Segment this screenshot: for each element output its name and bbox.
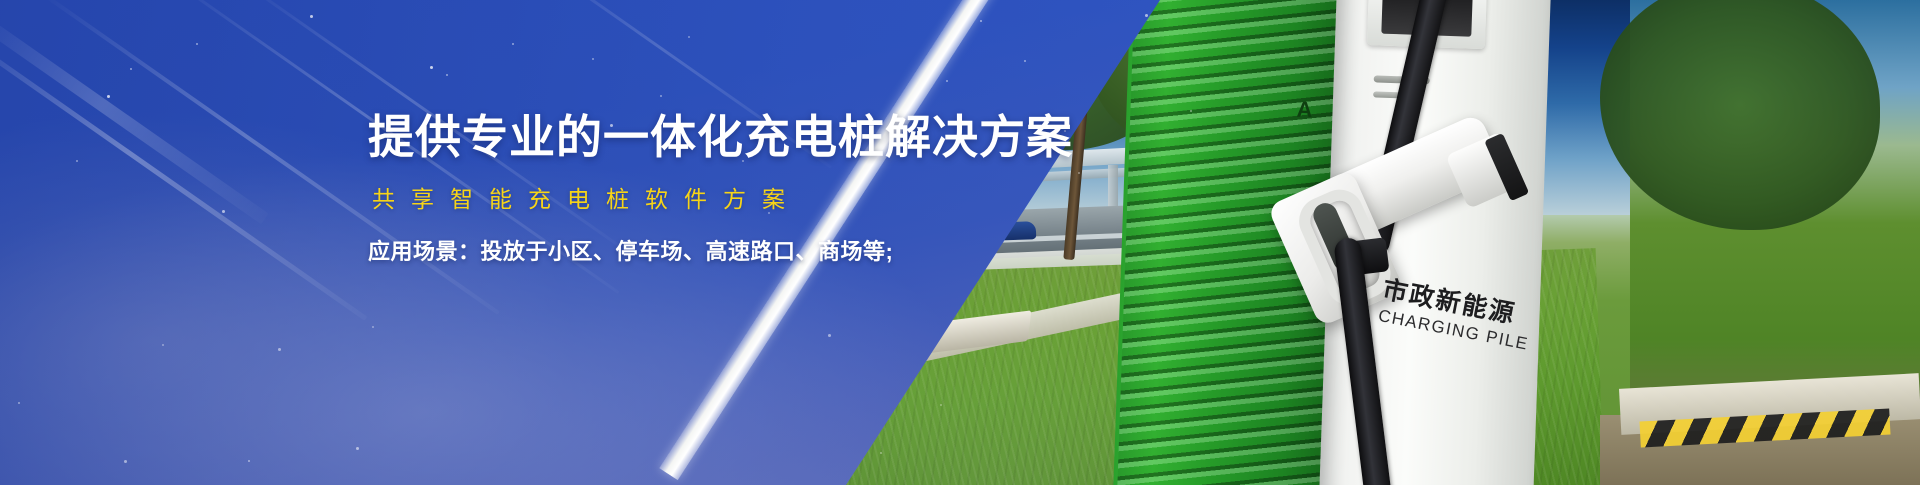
hero-banner: A 市政新能源 CHARGING PILE <box>0 0 1920 485</box>
banner-description: 应用场景：投放于小区、停车场、高速路口、商场等; <box>368 234 1068 266</box>
banner-headline: 提供专业的一体化充电桩解决方案 <box>368 112 1068 164</box>
banner-subheadline: 共享智能充电桩软件方案 <box>372 180 1068 214</box>
charging-pile-unit: A 市政新能源 CHARGING PILE <box>1113 0 1551 485</box>
banner-text-block: 提供专业的一体化充电桩解决方案 共享智能充电桩软件方案 应用场景：投放于小区、停… <box>368 112 1068 266</box>
charger-port-letter: A <box>1296 97 1313 124</box>
